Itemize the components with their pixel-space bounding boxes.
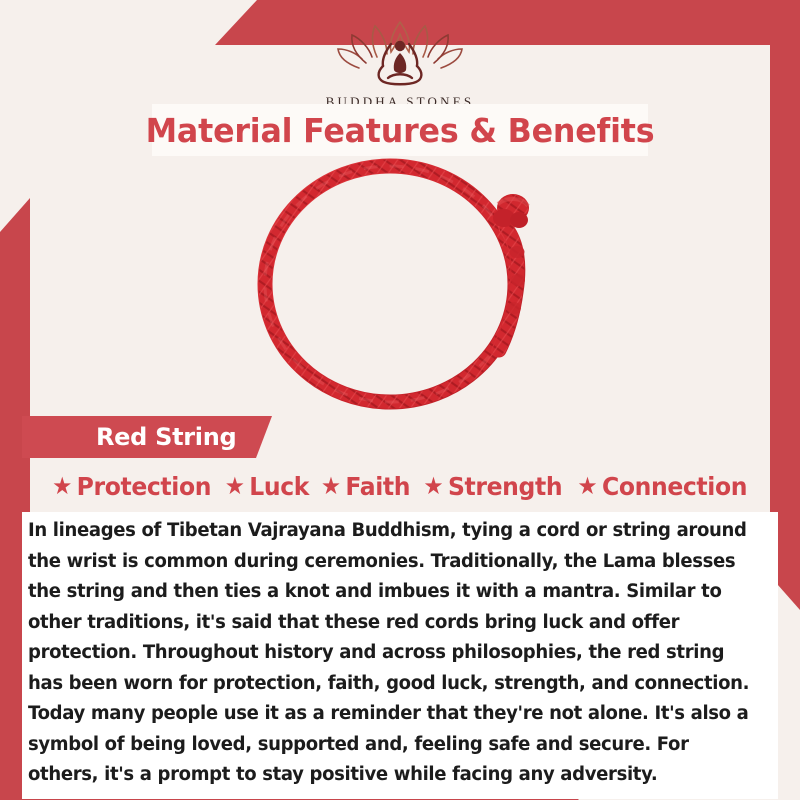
benefit-item-faith: ★ Faith bbox=[321, 472, 410, 501]
section-ribbon-label: Red String bbox=[96, 423, 236, 451]
infographic-page: BUDDHA STONES Material Features & Benefi… bbox=[0, 0, 800, 800]
brand-logo: BUDDHA STONES bbox=[0, 16, 800, 110]
product-image bbox=[30, 156, 770, 412]
page-title: Material Features & Benefits bbox=[146, 111, 655, 150]
section-ribbon: Red String bbox=[22, 416, 272, 458]
star-icon: ★ bbox=[225, 474, 245, 498]
benefits-row: ★ Protection ★ Luck ★ Faith ★ Strength ★… bbox=[30, 466, 770, 506]
benefit-label: Connection bbox=[602, 472, 747, 501]
lotus-meditation-icon bbox=[325, 16, 475, 92]
star-icon: ★ bbox=[423, 474, 443, 498]
benefit-label: Faith bbox=[345, 472, 410, 501]
benefit-item-luck: ★ Luck bbox=[225, 472, 309, 501]
description-paragraph: In lineages of Tibetan Vajrayana Buddhis… bbox=[28, 516, 753, 791]
benefit-item-protection: ★ Protection bbox=[52, 472, 211, 501]
page-title-band: Material Features & Benefits bbox=[152, 104, 648, 156]
red-braided-string-bracelet-icon bbox=[230, 156, 570, 412]
benefit-label: Luck bbox=[249, 472, 309, 501]
star-icon: ★ bbox=[321, 474, 341, 498]
benefit-item-connection: ★ Connection bbox=[578, 472, 748, 501]
benefit-item-strength: ★ Strength bbox=[423, 472, 562, 501]
benefit-label: Strength bbox=[448, 472, 562, 501]
benefit-label: Protection bbox=[77, 472, 211, 501]
star-icon: ★ bbox=[578, 474, 598, 498]
star-icon: ★ bbox=[52, 474, 72, 498]
description-block: In lineages of Tibetan Vajrayana Buddhis… bbox=[22, 512, 778, 799]
